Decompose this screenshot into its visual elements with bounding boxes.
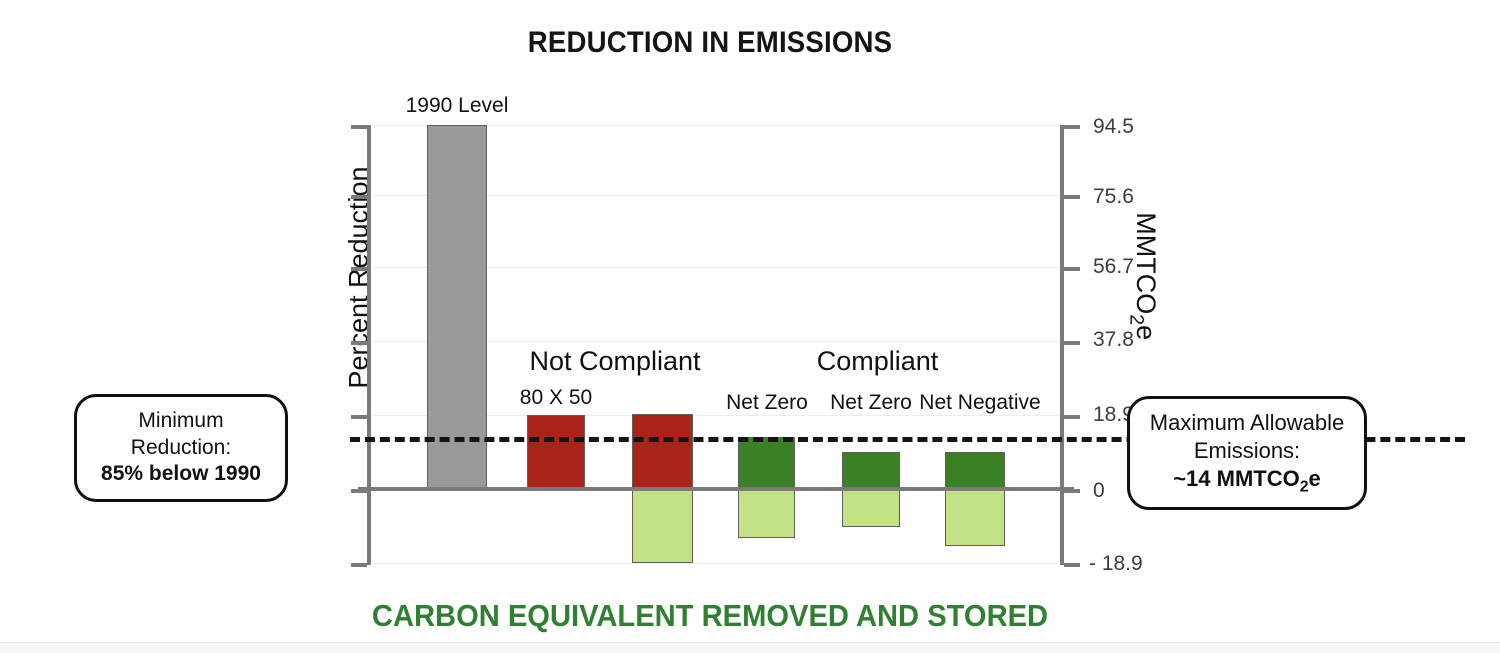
right-tick-189: [1064, 415, 1080, 419]
minimum-reduction-value: 85% below 1990: [101, 461, 261, 488]
bar-1990-level: [427, 125, 487, 489]
maximum-allowable-value-main: ~14 MMTCO: [1173, 466, 1300, 491]
minimum-reduction-callout: Minimum Reduction: 85% below 1990: [74, 394, 288, 502]
bottom-strip: [0, 642, 1500, 653]
bar-80x50-emissions: [527, 415, 585, 489]
right-tick-378: [1064, 341, 1080, 345]
right-axis-title-main: MMTCO: [1131, 212, 1161, 314]
left-tick-60: [351, 341, 367, 345]
chart-root: REDUCTION IN EMISSIONS Percent Reduction…: [0, 0, 1500, 653]
bar-net-zero-2-stored: [842, 489, 900, 527]
maximum-allowable-emissions-callout: Maximum Allowable Emissions: ~14 MMTCO2e: [1127, 396, 1367, 510]
baseline-zero-line: [358, 487, 1074, 491]
bar-net-negative-emissions: [945, 452, 1005, 489]
bar-label-1990-level: 1990 Level: [377, 95, 537, 116]
minimum-reduction-line1: Minimum: [138, 408, 223, 435]
right-axis-title-suffix: e: [1131, 325, 1161, 340]
left-axis-spine: [367, 125, 371, 565]
gridline-neg20: [372, 563, 1060, 564]
right-tick-label-378: 37.8: [1093, 329, 1134, 350]
bar-80x50-removal-emissions: [632, 414, 693, 489]
right-axis-spine: [1060, 125, 1064, 565]
left-tick-20: [351, 195, 367, 199]
bar-net-zero-1-emissions: [738, 437, 795, 489]
left-tick-0: [351, 125, 367, 129]
maximum-allowable-value-sub: 2: [1300, 478, 1309, 495]
right-tick-label-neg189: - 18.9: [1089, 553, 1143, 574]
maximum-allowable-value: ~14 MMTCO2e: [1173, 465, 1321, 498]
right-tick-945: [1064, 125, 1080, 129]
right-tick-label-756: 75.6: [1093, 186, 1134, 207]
maximum-allowable-value-suffix: e: [1309, 466, 1321, 491]
right-tick-567: [1064, 267, 1080, 271]
right-tick-label-0: 0: [1093, 480, 1105, 501]
right-tick-label-945: 94.5: [1093, 116, 1134, 137]
left-tick-80: [351, 415, 367, 419]
bottom-caption: CARBON EQUIVALENT REMOVED AND STORED: [43, 598, 1378, 634]
maximum-allowable-line2: Emissions:: [1194, 437, 1300, 465]
bar-net-zero-2-emissions: [842, 452, 900, 489]
right-axis-title-sub: 2: [1126, 314, 1148, 325]
bar-80x50-removal-stored: [632, 489, 693, 563]
minimum-reduction-line2: Reduction:: [131, 435, 231, 462]
page-title: REDUCTION IN EMISSIONS: [57, 26, 1363, 60]
maximum-allowable-line1: Maximum Allowable: [1150, 409, 1344, 437]
right-tick-neg189: [1064, 563, 1080, 567]
right-tick-label-567: 56.7: [1093, 256, 1134, 277]
plot-area: [372, 125, 1060, 565]
bar-net-negative-stored: [945, 489, 1005, 546]
left-tick-neg20: [351, 563, 367, 567]
left-tick-40: [351, 267, 367, 271]
bar-net-zero-1-stored: [738, 489, 795, 538]
right-tick-756: [1064, 195, 1080, 199]
